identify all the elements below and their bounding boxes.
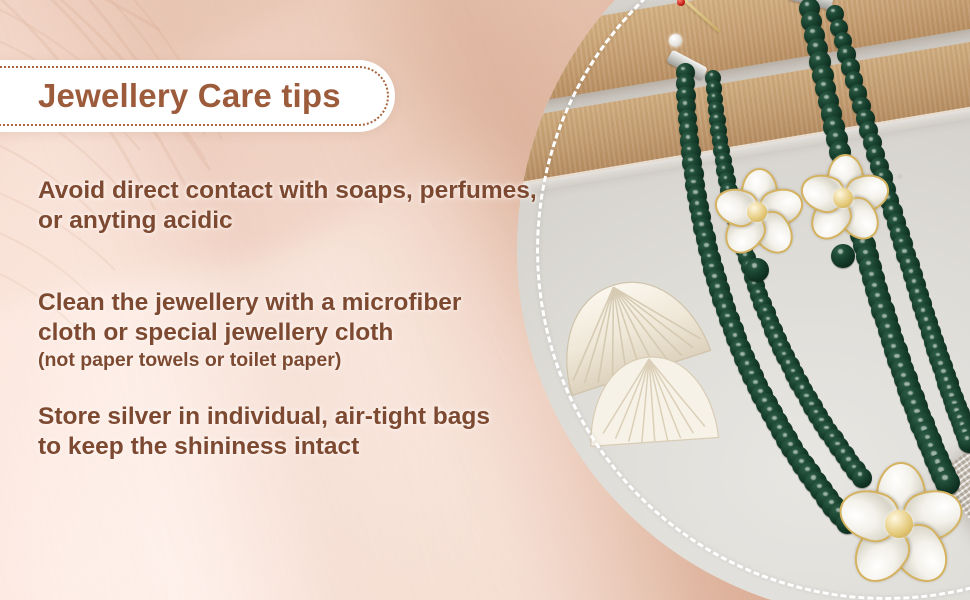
- crystal-flower-center: [747, 202, 767, 222]
- tip-2-sub: (not paper towels or toilet paper): [38, 348, 558, 373]
- crystal-flower-pendant: [817, 452, 970, 600]
- crystal-flower-center: [833, 188, 853, 208]
- tips-list: Avoid direct contact with soaps, perfume…: [38, 176, 558, 494]
- crystal-flower-center: [885, 510, 913, 538]
- tip-3-line-2: to keep the shininess intact: [38, 432, 558, 462]
- tip-1-line-1: Avoid direct contact with soaps, perfume…: [38, 176, 558, 206]
- green-drop-bead: [745, 258, 769, 282]
- care-tips-banner: Jewellery Care tips Avoid direct contact…: [0, 0, 970, 600]
- crystal-bead-left: [669, 34, 682, 47]
- tip-2-line-2: cloth or special jewellery cloth: [38, 318, 558, 348]
- tip-item-1: Avoid direct contact with soaps, perfume…: [38, 176, 558, 236]
- page-title: Jewellery Care tips: [0, 60, 395, 132]
- earring-left: [713, 172, 813, 282]
- tip-1-line-2: or anyting acidic: [38, 206, 558, 236]
- jewellery-photo: [517, 0, 970, 600]
- tip-2-line-1: Clean the jewellery with a microfiber: [38, 288, 558, 318]
- seashell-lower: [584, 348, 721, 457]
- tip-item-2: Clean the jewellery with a microfiber cl…: [38, 288, 558, 372]
- tip-item-3: Store silver in individual, air-tight ba…: [38, 402, 558, 462]
- green-drop-bead: [831, 244, 855, 268]
- earring-right: [799, 158, 899, 268]
- tip-3-line-1: Store silver in individual, air-tight ba…: [38, 402, 558, 432]
